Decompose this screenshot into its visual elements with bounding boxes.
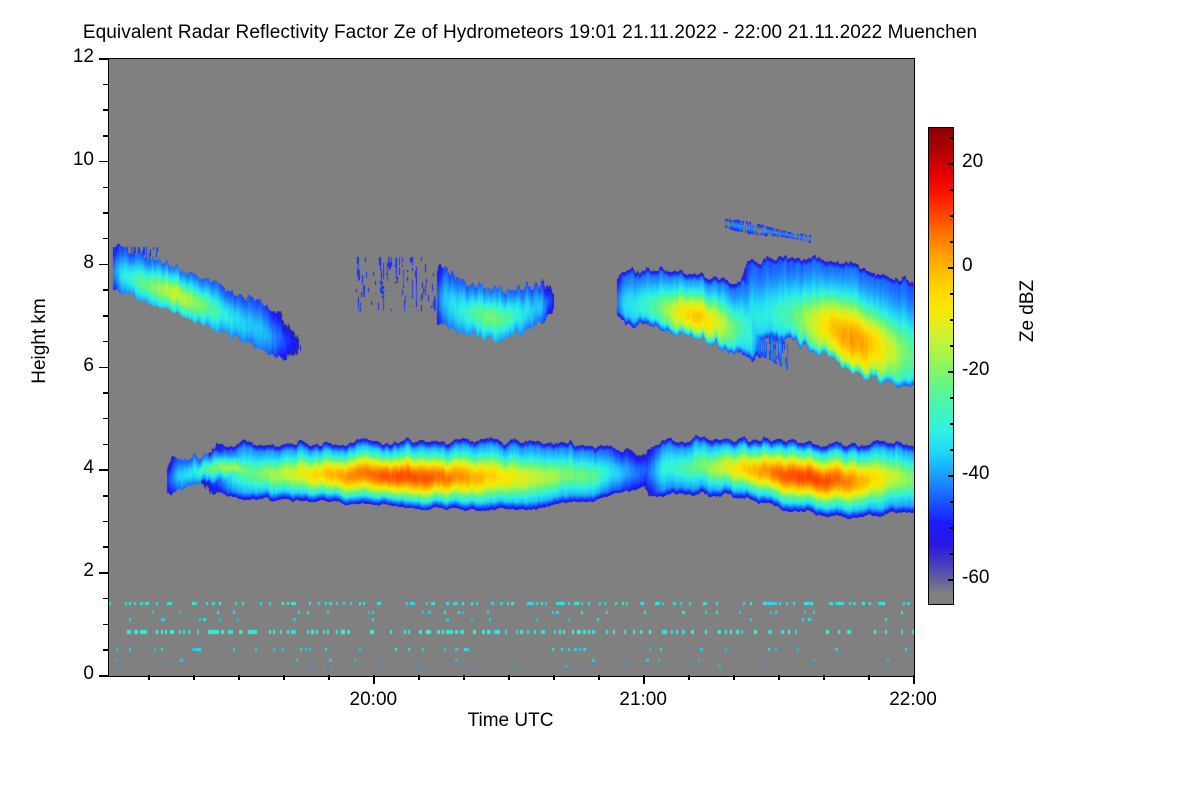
y-tick-minor bbox=[103, 315, 108, 317]
x-tick-major bbox=[373, 675, 375, 684]
y-tick-minor bbox=[103, 187, 108, 189]
y-tick-minor bbox=[103, 84, 108, 86]
y-tick-minor bbox=[103, 289, 108, 291]
colorbar-tick-label: 0 bbox=[962, 255, 973, 277]
x-tick-minor bbox=[823, 675, 825, 680]
x-tick-minor bbox=[733, 675, 735, 680]
y-tick-minor bbox=[103, 109, 108, 111]
colorbar-tick-label: 20 bbox=[962, 151, 983, 173]
y-tick-label: 12 bbox=[0, 46, 94, 68]
radar-heatmap-plot bbox=[108, 58, 915, 677]
x-tick-minor bbox=[148, 675, 150, 680]
y-tick-minor bbox=[103, 444, 108, 446]
x-tick-minor bbox=[283, 675, 285, 680]
x-tick-minor bbox=[778, 675, 780, 680]
colorbar-tick-label: -40 bbox=[962, 463, 989, 485]
y-tick-minor bbox=[103, 341, 108, 343]
colorbar-tick-minor bbox=[950, 501, 954, 503]
x-tick-minor bbox=[238, 675, 240, 680]
y-tick-minor bbox=[103, 238, 108, 240]
colorbar-tick-minor bbox=[950, 527, 954, 529]
y-tick-major bbox=[99, 58, 108, 60]
x-axis-title: Time UTC bbox=[108, 710, 913, 732]
colorbar-tick-minor bbox=[950, 345, 954, 347]
colorbar-tick-minor bbox=[950, 553, 954, 555]
colorbar-tick-minor bbox=[950, 397, 954, 399]
x-tick-minor bbox=[193, 675, 195, 680]
y-tick-minor bbox=[103, 392, 108, 394]
x-tick-label: 20:00 bbox=[313, 689, 433, 711]
colorbar-tick-minor bbox=[950, 215, 954, 217]
colorbar-tick-minor bbox=[950, 189, 954, 191]
colorbar-tick-minor bbox=[950, 241, 954, 243]
y-tick-minor bbox=[103, 495, 108, 497]
y-tick-label: 10 bbox=[0, 149, 94, 171]
y-tick-minor bbox=[103, 649, 108, 651]
colorbar-tick-minor bbox=[950, 319, 954, 321]
y-tick-minor bbox=[103, 418, 108, 420]
y-tick-major bbox=[99, 367, 108, 369]
y-tick-label: 2 bbox=[0, 560, 94, 582]
y-tick-minor bbox=[103, 598, 108, 600]
x-tick-minor bbox=[328, 675, 330, 680]
colorbar-tick-label: -20 bbox=[962, 359, 989, 381]
y-tick-label: 4 bbox=[0, 457, 94, 479]
colorbar-tick-label: -60 bbox=[962, 567, 989, 589]
y-axis-title: Height km bbox=[29, 261, 51, 421]
x-tick-minor bbox=[688, 675, 690, 680]
x-tick-label: 21:00 bbox=[583, 689, 703, 711]
y-tick-major bbox=[99, 675, 108, 677]
colorbar-tick-minor bbox=[950, 449, 954, 451]
y-tick-minor bbox=[103, 212, 108, 214]
y-tick-minor bbox=[103, 546, 108, 548]
x-tick-minor bbox=[598, 675, 600, 680]
y-tick-major bbox=[99, 572, 108, 574]
colorbar-tick-minor bbox=[950, 423, 954, 425]
reflectivity-canvas bbox=[109, 59, 914, 676]
x-tick-label: 22:00 bbox=[853, 689, 973, 711]
x-tick-minor bbox=[418, 675, 420, 680]
x-tick-minor bbox=[553, 675, 555, 680]
x-tick-minor bbox=[508, 675, 510, 680]
x-tick-major bbox=[913, 675, 915, 684]
y-tick-major bbox=[99, 469, 108, 471]
colorbar-title: Ze dBZ bbox=[1017, 231, 1039, 391]
colorbar-tick-major bbox=[948, 475, 954, 477]
x-tick-minor bbox=[868, 675, 870, 680]
colorbar-tick-major bbox=[948, 371, 954, 373]
colorbar-tick-minor bbox=[950, 293, 954, 295]
y-tick-major bbox=[99, 161, 108, 163]
y-tick-major bbox=[99, 264, 108, 266]
y-tick-minor bbox=[103, 624, 108, 626]
colorbar-gradient bbox=[928, 127, 954, 605]
y-tick-minor bbox=[103, 521, 108, 523]
colorbar-tick-major bbox=[948, 267, 954, 269]
x-tick-minor bbox=[463, 675, 465, 680]
y-tick-minor bbox=[103, 135, 108, 137]
y-tick-label: 0 bbox=[0, 663, 94, 685]
colorbar-tick-major bbox=[948, 579, 954, 581]
x-tick-major bbox=[643, 675, 645, 684]
colorbar bbox=[928, 127, 954, 605]
page-title: Equivalent Radar Reflectivity Factor Ze … bbox=[0, 22, 1060, 44]
colorbar-tick-major bbox=[948, 163, 954, 165]
colorbar-tick-minor bbox=[950, 137, 954, 139]
